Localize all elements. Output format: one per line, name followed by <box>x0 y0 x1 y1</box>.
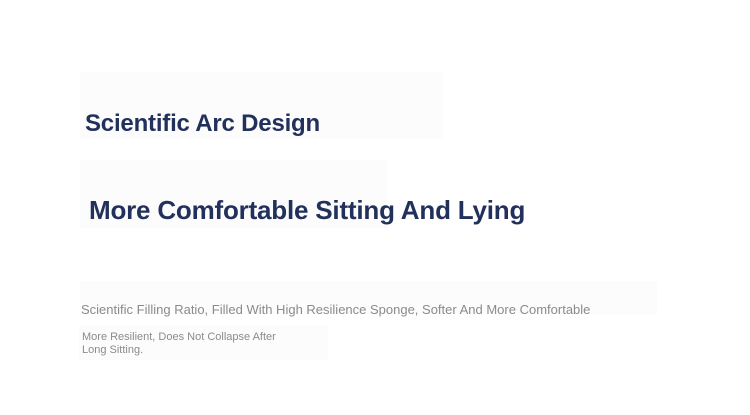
feature-description: Scientific Filling Ratio, Filled With Hi… <box>81 301 590 319</box>
headline-primary: Scientific Arc Design <box>85 109 320 139</box>
feature-note-line-2: Long Sitting. <box>82 344 322 357</box>
headline-secondary: More Comfortable Sitting And Lying <box>89 194 525 226</box>
product-feature-banner: Scientific Arc Design More Comfortable S… <box>0 0 750 415</box>
feature-note-line-1: More Resilient, Does Not Collapse After <box>82 331 322 344</box>
feature-note: More Resilient, Does Not Collapse After … <box>82 331 322 356</box>
